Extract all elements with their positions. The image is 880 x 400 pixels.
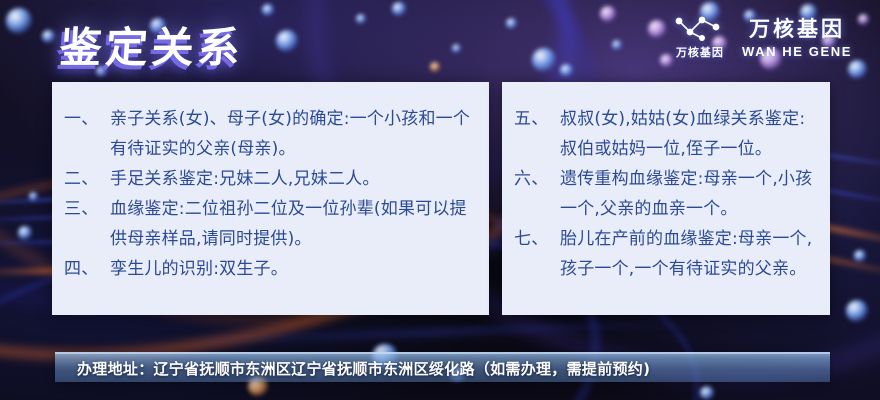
bokeh-dot: [600, 6, 616, 22]
content-panel-right: 五、 叔叔(女),姑姑(女)血绿关系鉴定:叔伯或姑妈一位,侄子一位。 六、 遗传…: [502, 82, 830, 315]
brand-logo: 万核基因 万核基因 WAN HE GENE: [672, 12, 852, 60]
bokeh-dot: [532, 48, 556, 72]
list-item-text: 孪生儿的识别:双生子。: [110, 254, 475, 284]
bokeh-dot: [648, 20, 666, 38]
page-title: 鉴定关系: [58, 14, 246, 75]
bokeh-dot: [854, 250, 866, 262]
list-item-number: 三、: [64, 194, 110, 224]
list-item-text: 手足关系鉴定:兄妹二人,兄妹二人。: [110, 164, 475, 194]
address-bar: 办理地址：辽宁省抚顺市东洲区辽宁省抚顺市东洲区绥化路（如需办理，需提前预约): [55, 352, 830, 382]
bokeh-dot: [29, 192, 38, 201]
list-item-number: 二、: [64, 164, 110, 194]
list-item: 二、 手足关系鉴定:兄妹二人,兄妹二人。: [64, 164, 475, 194]
list-item-number: 六、: [514, 164, 560, 194]
address-text: 办理地址：辽宁省抚顺市东洲区辽宁省抚顺市东洲区绥化路（如需办理，需提前预约): [77, 358, 650, 379]
list-item-text: 亲子关系(女)、母子(女)的确定:一个小孩和一个有待证实的父亲(母亲)。: [110, 104, 475, 164]
list-item: 六、 遗传重构血缘鉴定:母亲一个,小孩一个,父亲的血亲一个。: [514, 164, 816, 224]
logo-mark: 万核基因: [672, 12, 728, 60]
molecule-icon: [672, 12, 728, 42]
list-item: 四、 孪生儿的识别:双生子。: [64, 254, 475, 284]
list-item-number: 七、: [514, 224, 560, 254]
list-item-text: 血缘鉴定:二位祖孙二位及一位孙辈(如果可以提供母亲样品,请同时提供)。: [110, 194, 475, 254]
list-item-number: 四、: [64, 254, 110, 284]
list-item-text: 遗传重构血缘鉴定:母亲一个,小孩一个,父亲的血亲一个。: [560, 164, 816, 224]
bokeh-dot: [846, 300, 868, 322]
bokeh-dot: [18, 226, 32, 240]
relationship-list-left: 一、 亲子关系(女)、母子(女)的确定:一个小孩和一个有待证实的父亲(母亲)。 …: [64, 104, 475, 284]
bokeh-dot: [356, 14, 366, 24]
bokeh-dot: [42, 30, 55, 43]
bokeh-dot: [262, 4, 274, 16]
list-item: 一、 亲子关系(女)、母子(女)的确定:一个小孩和一个有待证实的父亲(母亲)。: [64, 104, 475, 164]
bokeh-dot: [276, 30, 298, 52]
bokeh-dot: [452, 44, 461, 53]
bokeh-dot: [392, 2, 406, 16]
brand-name-en: WAN HE GENE: [742, 44, 852, 59]
bokeh-dot: [506, 18, 517, 29]
content-panel-left: 一、 亲子关系(女)、母子(女)的确定:一个小孩和一个有待证实的父亲(母亲)。 …: [52, 82, 489, 315]
bokeh-dot: [430, 62, 440, 72]
bokeh-dot: [848, 60, 867, 79]
bokeh-dot: [612, 40, 622, 50]
list-item-number: 五、: [514, 104, 560, 134]
list-item-text: 胎儿在产前的血缘鉴定:母亲一个,孩子一个,一个有待证实的父亲。: [560, 224, 816, 284]
list-item-number: 一、: [64, 104, 110, 134]
list-item: 七、 胎儿在产前的血缘鉴定:母亲一个,孩子一个,一个有待证实的父亲。: [514, 224, 816, 284]
list-item: 五、 叔叔(女),姑姑(女)血绿关系鉴定:叔伯或姑妈一位,侄子一位。: [514, 104, 816, 164]
slide-canvas: 鉴定关系 万核基因: [0, 0, 880, 400]
bokeh-dot: [6, 8, 32, 34]
list-item-text: 叔叔(女),姑姑(女)血绿关系鉴定:叔伯或姑妈一位,侄子一位。: [560, 104, 816, 164]
brand-name-cn: 万核基因: [749, 13, 845, 43]
logo-wordmark: 万核基因 WAN HE GENE: [742, 13, 852, 59]
logo-mark-label: 万核基因: [676, 44, 724, 60]
bokeh-dot: [560, 64, 573, 77]
bokeh-dot: [700, 386, 714, 400]
list-item: 三、 血缘鉴定:二位祖孙二位及一位孙辈(如果可以提供母亲样品,请同时提供)。: [64, 194, 475, 254]
relationship-list-right: 五、 叔叔(女),姑姑(女)血绿关系鉴定:叔伯或姑妈一位,侄子一位。 六、 遗传…: [514, 104, 816, 284]
bokeh-dot: [858, 14, 869, 25]
